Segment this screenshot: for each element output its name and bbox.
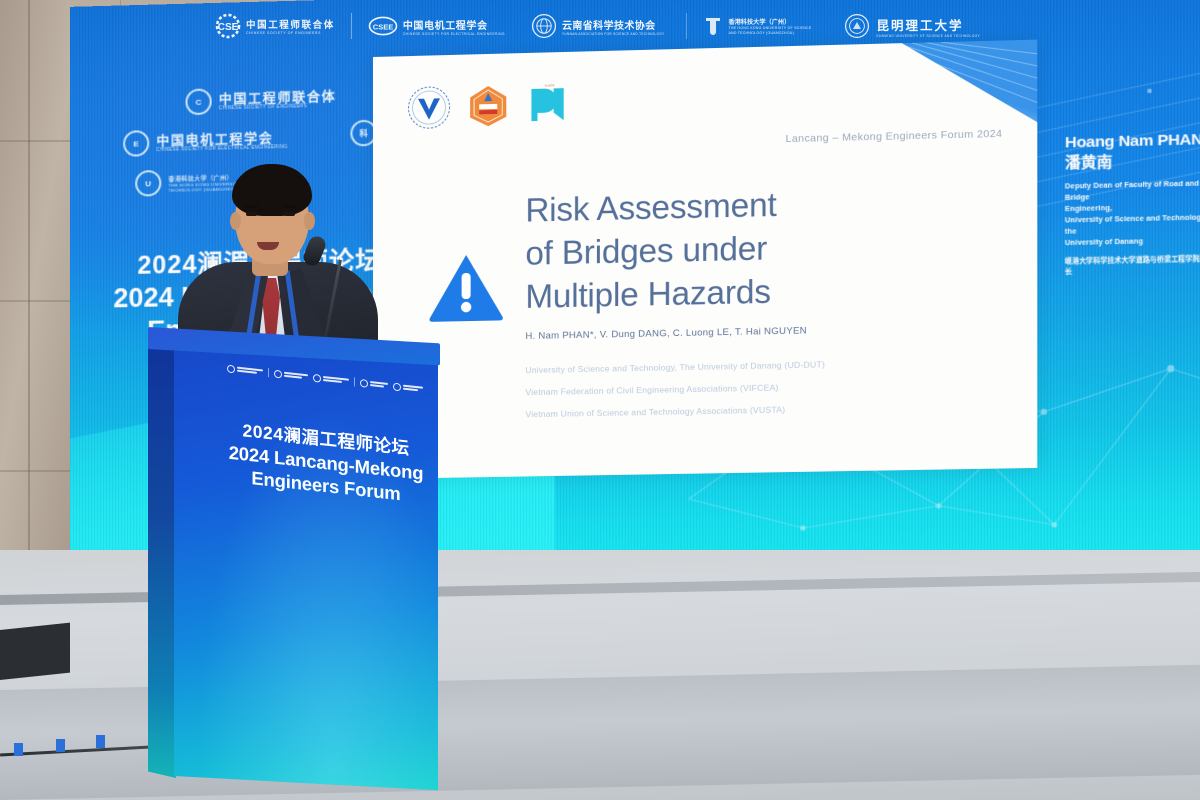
header-logo-cn: 云南省科学技术协会 — [562, 17, 664, 32]
vifcea-logo — [468, 84, 508, 129]
slide-title-line3: Multiple Hazards — [525, 266, 993, 319]
speaker-brow-right — [282, 205, 296, 208]
svg-text:VUSTA: VUSTA — [545, 83, 555, 87]
podium-logo-divider — [268, 368, 269, 377]
csee-oval-icon — [274, 369, 282, 378]
cable-tape — [14, 743, 23, 756]
csee-oval-icon: E — [123, 130, 149, 157]
header-logo-en: KUNMING UNIVERSITY OF SCIENCE AND TECHNO… — [876, 34, 980, 38]
podium-side-panel — [148, 342, 176, 778]
speaker-eye-left — [246, 212, 257, 216]
speaker-ear-left — [230, 212, 241, 230]
cse-gear-icon — [227, 364, 235, 373]
slide-corner-lines — [792, 40, 1038, 178]
header-logo-strip: CSE 中国工程师联合体 CHINESE SOCIETY OF ENGINEER… — [215, 13, 980, 39]
ynast-globe-icon — [531, 13, 557, 39]
header-logo-en: CHINESE SOCIETY FOR ELECTRICAL ENGINEERI… — [403, 32, 505, 36]
cable-tape — [96, 735, 105, 748]
cse-gear-icon: C — [185, 88, 211, 115]
affiliation-item: Vietnam Union of Science and Technology … — [525, 400, 982, 422]
podium-title-en-1: 2024 Lancang-Mekong — [210, 438, 438, 487]
speaker-role-line3: University of Science and Technology, th… — [1065, 212, 1200, 238]
affiliation-item: Vietnam Federation of Civil Engineering … — [525, 378, 982, 400]
floor-dark-cutout — [0, 623, 70, 680]
speaker-name-cn: 潘黄南 — [1065, 151, 1200, 172]
vusta-logo: VUSTA — [525, 82, 571, 127]
cse-gear-icon: CSE — [215, 13, 241, 39]
hkust-pillar-icon — [360, 378, 368, 387]
cable-tape — [56, 739, 65, 752]
slide-logo-group: VUSTA — [407, 82, 572, 130]
podium-forum-title: 2024澜湄工程师论坛 2024 Lancang-Mekong Engineer… — [210, 416, 438, 511]
header-logo-kust: 昆明理工大学 KUNMING UNIVERSITY OF SCIENCE AND… — [844, 13, 980, 39]
header-logo-en: CHINESE SOCIETY OF ENGINEERS — [246, 31, 335, 35]
speaker-role-line4: University of Danang — [1065, 234, 1200, 248]
header-divider — [351, 13, 352, 39]
header-divider — [686, 13, 687, 39]
header-logo-hkust: 香港科技大学（广州） THE HONG KONG UNIVERSITY OF S… — [703, 14, 814, 38]
header-logo-csee: CSEE 中国电机工程学会 CHINESE SOCIETY FOR ELECTR… — [368, 16, 505, 36]
hkust-pillar-icon — [703, 14, 723, 38]
header-logo-cse: CSE 中国工程师联合体 CHINESE SOCIETY OF ENGINEER… — [215, 13, 335, 39]
speaker-hair — [232, 164, 312, 216]
podium-logo-item — [313, 373, 349, 385]
podium-title-en-2: Engineers Forum — [210, 462, 438, 511]
podium-front-panel: 2024澜湄工程师论坛 2024 Lancang-Mekong Engineer… — [174, 336, 438, 790]
header-logo-cn: 香港科技大学（广州） — [728, 17, 814, 26]
speaker-name-en: Hoang Nam PHAN — [1065, 131, 1200, 153]
header-logo-cn: 昆明理工大学 — [876, 15, 980, 34]
csee-oval-icon: CSEE — [368, 16, 398, 36]
podium-logo-divider — [354, 377, 355, 386]
speaker-brow-left — [244, 205, 258, 208]
podium-logo-item — [227, 364, 263, 376]
speaker-ear-right — [304, 212, 315, 230]
speaker-info-panel: Hoang Nam PHAN 潘黄南 Deputy Dean of Facult… — [1065, 131, 1200, 276]
slide-title: Risk Assessment of Bridges under Multipl… — [525, 179, 993, 319]
speaker-role-cn: 岘港大学科学技术大学道路与桥梁工程学院副院长 — [1065, 252, 1200, 276]
podium-logo-strip — [214, 362, 436, 395]
ynast-globe-icon — [313, 373, 321, 382]
university-seal-logo — [407, 85, 451, 130]
header-logo-cn: 中国电机工程学会 — [403, 17, 505, 32]
warning-triangle-icon — [428, 250, 504, 322]
slide-authors: H. Nam PHAN*, V. Dung DANG, C. Luong LE,… — [525, 321, 1003, 342]
podium-logo-item — [274, 369, 308, 381]
header-logo-ynast: 云南省科学技术协会 YUNNAN ASSOCIATION FOR SCIENCE… — [531, 13, 664, 39]
svg-text:CSEE: CSEE — [373, 23, 393, 32]
header-logo-en: THE HONG KONG UNIVERSITY OF SCIENCE AND … — [728, 26, 814, 36]
slide-affiliations: University of Science and Technology, Th… — [525, 355, 982, 431]
conference-stage-photo: C 中国工程师联合体 CHINESE SOCIETY OF ENGINEERS … — [0, 0, 1200, 800]
podium-logo-item — [393, 382, 423, 393]
podium-title-cn: 2024澜湄工程师论坛 — [210, 416, 438, 464]
header-logo-cn: 中国工程师联合体 — [246, 17, 335, 31]
speaker-podium: 2024澜湄工程师论坛 2024 Lancang-Mekong Engineer… — [148, 336, 438, 800]
speaker-role-line1: Deputy Dean of Faculty of Road and Bridg… — [1065, 178, 1200, 204]
kust-seal-icon — [393, 382, 401, 391]
affiliation-item: University of Science and Technology, Th… — [525, 355, 982, 377]
speaker-eye-right — [284, 212, 295, 216]
presentation-slide: VUSTA Lancang – Mekong Engineers Forum 2… — [373, 40, 1037, 479]
svg-text:CSE: CSE — [218, 22, 239, 33]
podium-logo-item — [360, 378, 388, 389]
header-logo-en: YUNNAN ASSOCIATION FOR SCIENCE AND TECHN… — [562, 32, 664, 36]
kust-seal-icon — [844, 13, 870, 39]
hkust-pillar-icon: U — [135, 170, 161, 197]
